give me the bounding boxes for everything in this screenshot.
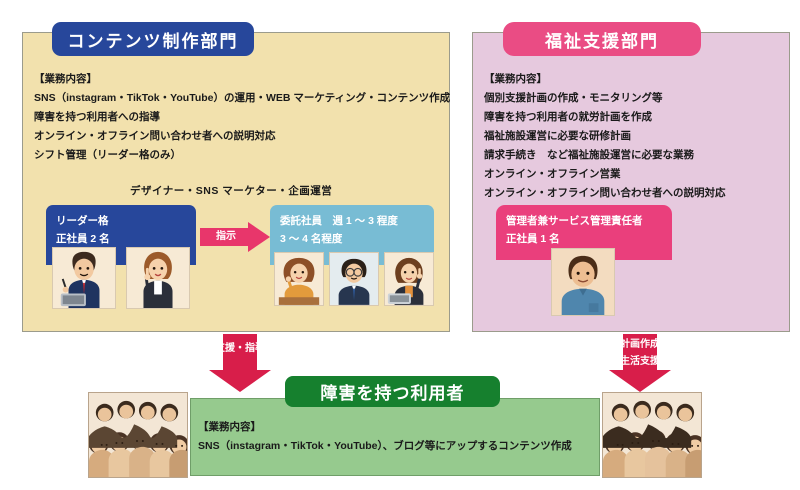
duty-line: 障害を持つ利用者への指導 bbox=[34, 108, 444, 127]
portrait-man-glasses-suit bbox=[329, 252, 379, 306]
support-arrow: 支援・指導 bbox=[185, 334, 295, 392]
duty-line: 障害を持つ利用者の就労計画を作成 bbox=[484, 108, 784, 127]
arrow-head-icon bbox=[609, 370, 671, 392]
duty-line: オンライン・オフライン問い合わせ者への説明対応 bbox=[34, 127, 444, 146]
content-department-duties: 【業務内容】 SNS（instagram・TikTok・YouTube）の運用・… bbox=[34, 70, 444, 165]
plan-arrow: 計画作成 生活支援 bbox=[585, 334, 695, 392]
content-department-title: コンテンツ制作部門 bbox=[52, 22, 254, 56]
arrow-head-icon bbox=[209, 370, 271, 392]
instruct-arrow-label: 指示 bbox=[206, 229, 246, 245]
contract-title: 委託社員 週 1 ～ 3 程度 bbox=[280, 212, 434, 230]
duty-line: シフト管理（リーダー格のみ） bbox=[34, 146, 444, 165]
duties-heading: 【業務内容】 bbox=[198, 418, 593, 437]
duty-line: SNS（instagram・TikTok・YouTube）、ブログ等にアップする… bbox=[198, 437, 593, 456]
plan-arrow-label-line1: 計画作成 bbox=[620, 339, 660, 350]
portrait-woman-short-hair bbox=[274, 252, 324, 306]
leader-count: 正社員 2 名 bbox=[56, 230, 196, 248]
arrow-head-icon bbox=[248, 222, 270, 252]
duties-heading: 【業務内容】 bbox=[484, 70, 784, 89]
instruct-arrow: 指示 bbox=[200, 222, 270, 252]
users-title: 障害を持つ利用者 bbox=[285, 376, 500, 407]
duty-line: オンライン・オフライン問い合わせ者への説明対応 bbox=[484, 184, 784, 203]
welfare-department-duties: 【業務内容】 個別支援計画の作成・モニタリング等 障害を持つ利用者の就労計画を作… bbox=[484, 70, 784, 203]
duty-line: オンライン・オフライン営業 bbox=[484, 165, 784, 184]
portrait-man-blue-polo bbox=[551, 248, 615, 316]
duties-heading: 【業務内容】 bbox=[34, 70, 444, 89]
plan-arrow-label: 計画作成 生活支援 bbox=[585, 336, 695, 370]
leader-title: リーダー格 bbox=[56, 212, 196, 230]
role-caption: デザイナー・SNS マーケター・企画運営 bbox=[130, 183, 332, 198]
duty-line: SNS（instagram・TikTok・YouTube）の運用・WEB マーケ… bbox=[34, 89, 444, 108]
support-arrow-label: 支援・指導 bbox=[185, 340, 295, 357]
welfare-department-title: 福祉支援部門 bbox=[503, 22, 701, 56]
contract-count: 3 ～ 4 名程度 bbox=[280, 230, 434, 248]
duty-line: 請求手続き など福祉施設運営に必要な業務 bbox=[484, 146, 784, 165]
plan-arrow-label-line2: 生活支援 bbox=[620, 356, 660, 367]
duty-line: 個別支援計画の作成・モニタリング等 bbox=[484, 89, 784, 108]
portrait-woman-pointing bbox=[126, 247, 190, 309]
manager-title: 管理者兼サービス管理責任者 bbox=[506, 212, 672, 230]
duty-line: 福祉施設運営に必要な研修計画 bbox=[484, 127, 784, 146]
manager-count: 正社員 1 名 bbox=[506, 230, 672, 248]
users-duties: 【業務内容】 SNS（instagram・TikTok・YouTube）、ブログ… bbox=[198, 418, 593, 456]
diagram-canvas: コンテンツ制作部門 【業務内容】 SNS（instagram・TikTok・Yo… bbox=[0, 0, 800, 490]
portrait-woman-with-laptop bbox=[384, 252, 434, 306]
group-photo-left bbox=[88, 392, 188, 478]
portrait-man-with-laptop bbox=[52, 247, 116, 309]
group-photo-right bbox=[602, 392, 702, 478]
